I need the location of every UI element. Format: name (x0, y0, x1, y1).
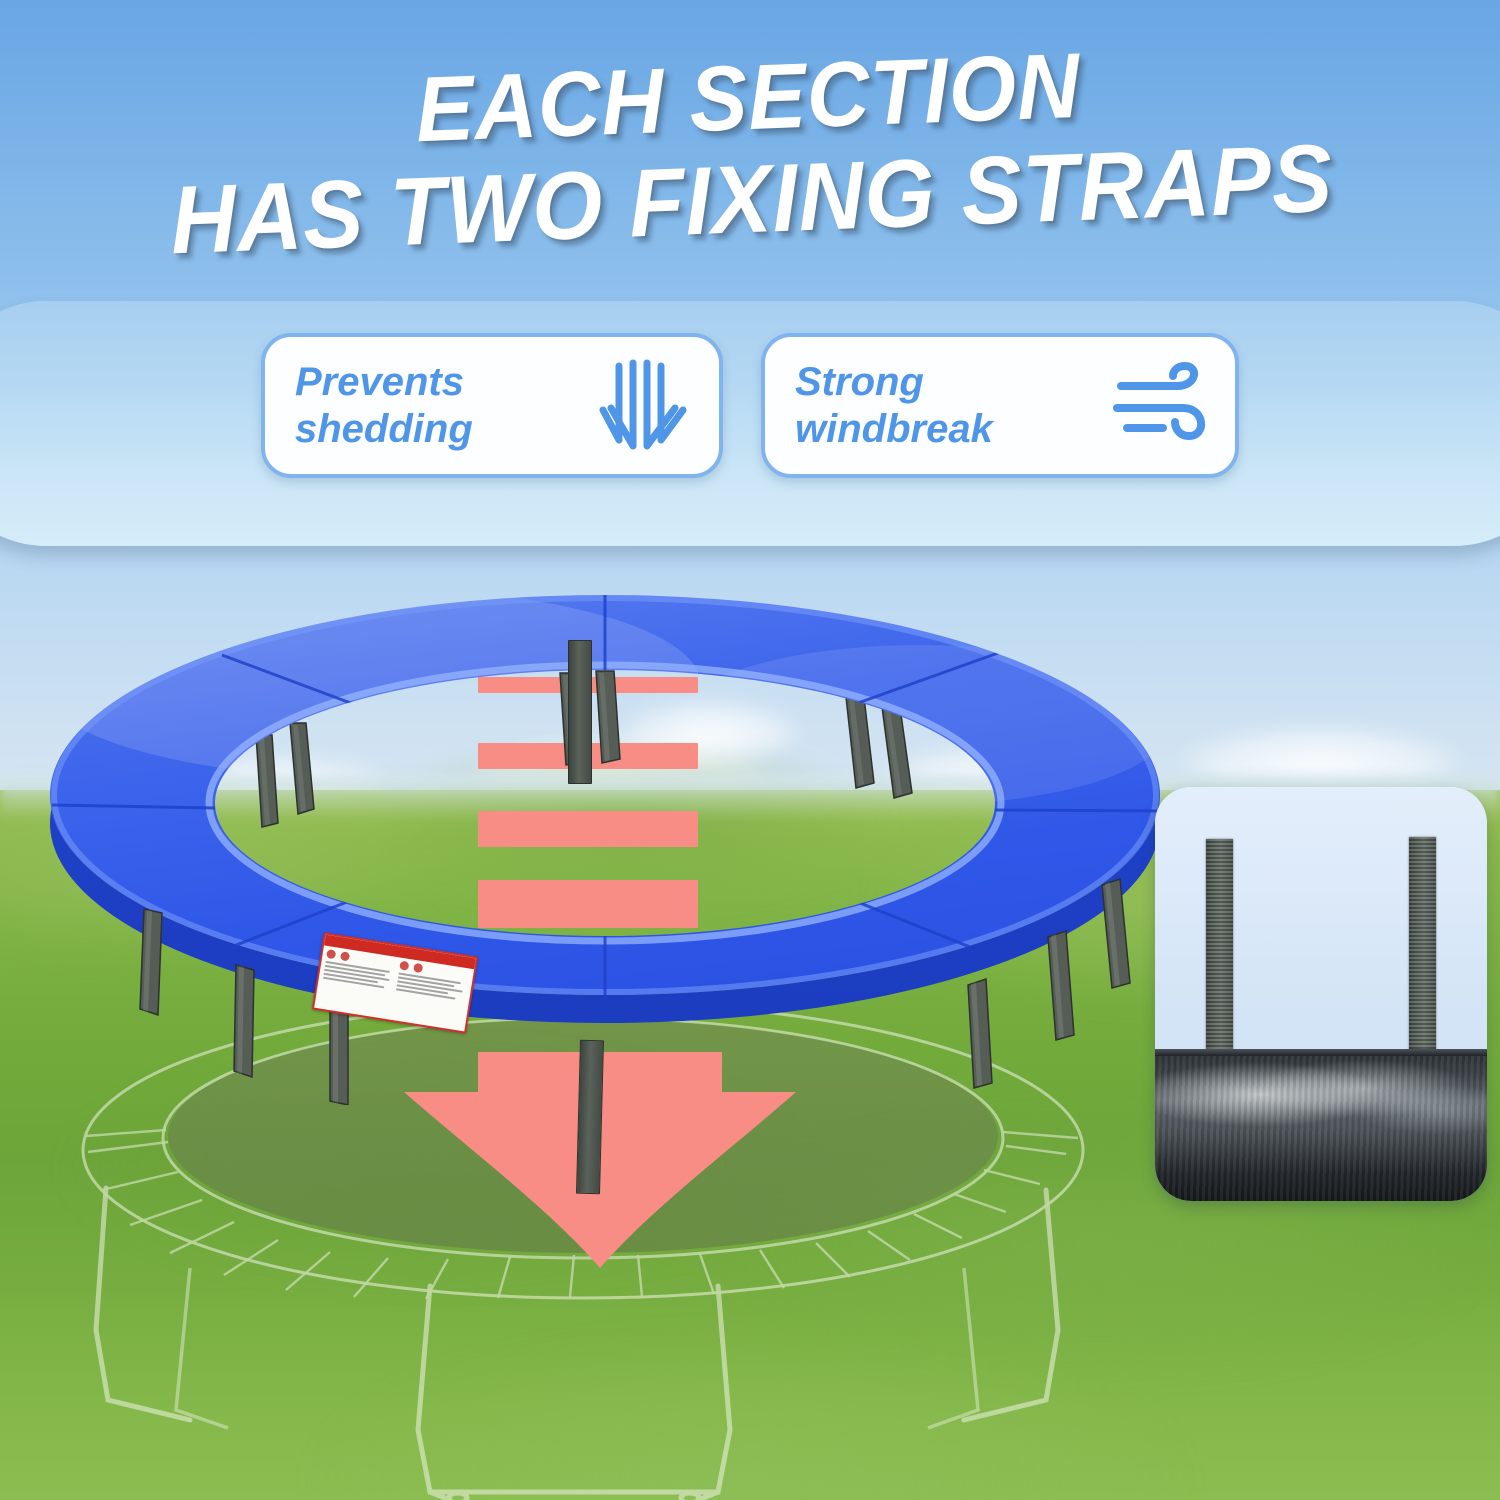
warning-icon (340, 951, 350, 961)
inset-pad-underside (1155, 1049, 1487, 1201)
fixing-strap-center (576, 1040, 604, 1195)
strap-detail-photo (1155, 787, 1487, 1201)
product-feature-graphic: EACH SECTION HAS TWO FIXING STRAPS Preve… (0, 0, 1500, 1500)
inset-pad-edge (1155, 1049, 1487, 1056)
trampoline-safety-pad-ring (40, 565, 1170, 1105)
warning-icon (399, 961, 409, 971)
warning-icon (412, 963, 422, 973)
inset-strap (1409, 837, 1436, 1059)
fixing-strap-top-center (568, 640, 592, 784)
warning-icon (326, 949, 336, 959)
inset-strap (1206, 839, 1233, 1057)
